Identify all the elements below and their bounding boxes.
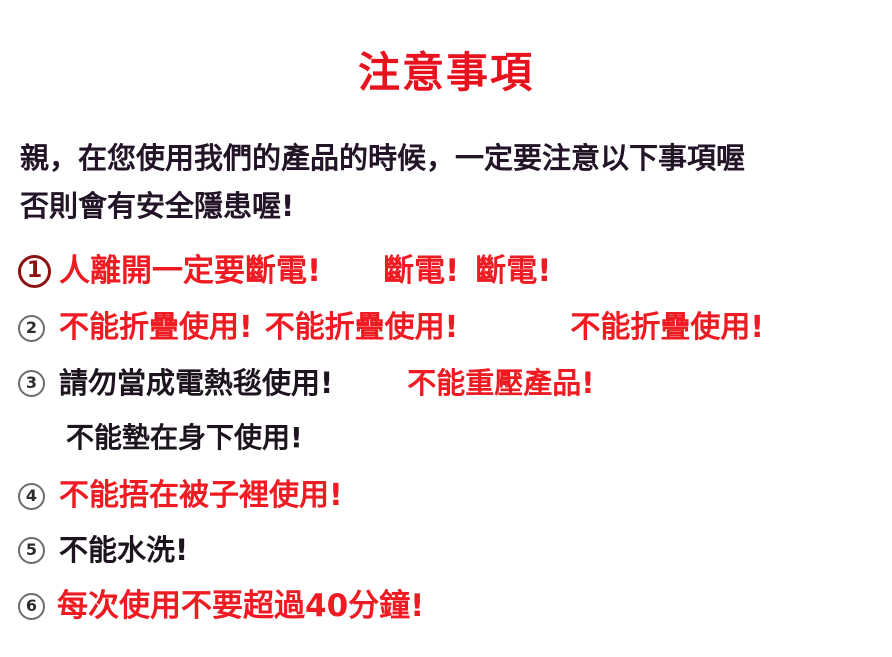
list-marker-2: 2 [18, 315, 45, 342]
list-item-2-text-c: 不能折疊使用! [570, 313, 764, 343]
spacer [45, 328, 59, 329]
list-item: 6 每次使用不要超過40分鐘! [18, 583, 884, 629]
list-item-1-text-b: 斷電! [383, 256, 459, 287]
list-item: 1 人離開一定要斷電! 斷電! 斷電! [18, 248, 884, 294]
spacer [45, 550, 59, 551]
list-marker-1: 1 [18, 255, 51, 288]
spacer [45, 606, 57, 607]
spacer [45, 496, 59, 497]
intro-line-2: 否則會有安全隱患喔! [20, 182, 882, 230]
list-marker-4: 4 [18, 483, 45, 510]
warning-notice-page: 注意事項 親，在您使用我們的產品的時候，一定要注意以下事項喔 否則會有安全隱患喔… [0, 0, 892, 657]
list-item-3-continuation: 不能墊在身下使用! [18, 415, 884, 461]
page-title: 注意事項 [0, 52, 892, 94]
list-marker-3: 3 [18, 370, 45, 397]
list-item: 2 不能折疊使用! 不能折疊使用! 不能折疊使用! [18, 305, 884, 351]
list-item-1-text-c: 斷電! [475, 256, 551, 287]
list-item-2-text-b: 不能折疊使用! [265, 313, 459, 343]
list-item-3-text-b: 不能重壓產品! [407, 369, 594, 398]
spacer [321, 271, 383, 272]
spacer [51, 271, 59, 272]
list-item-4-text: 不能捂在被子裡使用! [59, 481, 343, 511]
list-item: 5 不能水洗! [18, 527, 884, 573]
spacer [458, 328, 570, 329]
list-item-1-text-a: 人離開一定要斷電! [59, 256, 321, 287]
list-item: 4 不能捂在被子裡使用! [18, 473, 884, 519]
list-item-6-text: 每次使用不要超過40分鐘! [57, 591, 424, 622]
intro-line-1: 親，在您使用我們的產品的時候，一定要注意以下事項喔 [20, 141, 745, 175]
list-item-5-text: 不能水洗! [59, 536, 188, 565]
list-marker-5: 5 [18, 537, 45, 564]
spacer [459, 271, 475, 272]
spacer [253, 328, 265, 329]
list-item-3-continuation-text: 不能墊在身下使用! [66, 424, 303, 452]
spacer [18, 438, 66, 439]
list-item: 3 請勿當成電熱毯使用! 不能重壓產品! [18, 360, 884, 406]
list-marker-6: 6 [18, 593, 45, 620]
spacer [333, 383, 407, 384]
list-item-3-text-a: 請勿當成電熱毯使用! [59, 369, 333, 398]
intro-paragraph: 親，在您使用我們的產品的時候，一定要注意以下事項喔 否則會有安全隱患喔! [20, 134, 882, 230]
list-item-2-text-a: 不能折疊使用! [59, 313, 253, 343]
spacer [45, 383, 59, 384]
